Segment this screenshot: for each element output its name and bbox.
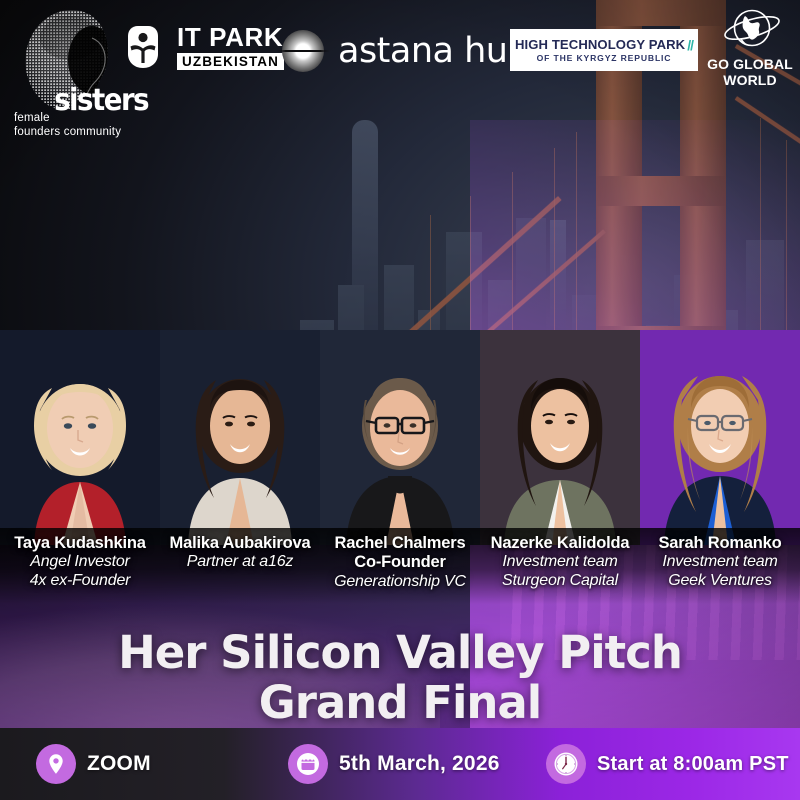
- sponsor-logo-astana-hub[interactable]: astana hub: [282, 30, 529, 72]
- calendar-icon: [288, 744, 328, 784]
- clock-icon: [546, 744, 586, 784]
- speaker-role-1: Investment team: [482, 553, 638, 572]
- avatar: [640, 330, 800, 545]
- title-line-1: Her Silicon Valley Pitch: [118, 626, 682, 679]
- speaker-card[interactable]: Sarah Romanko Investment team Geek Ventu…: [640, 330, 800, 610]
- it-park-country: UZBEKISTAN: [177, 53, 284, 71]
- event-date[interactable]: 5th March, 2026: [288, 744, 500, 784]
- avatar: [320, 330, 480, 545]
- avatar: [0, 330, 160, 545]
- sponsor-logo-sisters[interactable]: sisters female founders community: [6, 8, 136, 140]
- speaker-photo: [320, 330, 480, 545]
- speaker-role-2: Sturgeon Capital: [482, 572, 638, 591]
- sisters-tagline-2: founders community: [14, 126, 121, 138]
- speaker-role-2: 4x ex-Founder: [2, 572, 158, 591]
- speaker-name: Malika Aubakirova: [162, 534, 318, 553]
- title-line-2: Grand Final: [0, 678, 800, 728]
- speaker-card[interactable]: Malika Aubakirova Partner at a16z: [160, 330, 320, 610]
- ggw-name-line1: GO GLOBAL: [707, 57, 793, 72]
- speaker-card[interactable]: Nazerke Kalidolda Investment team Sturge…: [480, 330, 640, 610]
- speaker-photo: [640, 330, 800, 545]
- it-park-text: IT PARK UZBEKISTAN: [177, 24, 284, 71]
- avatar: [480, 330, 640, 545]
- speaker-card[interactable]: Taya Kudashkina Angel Investor 4x ex-Fou…: [0, 330, 160, 610]
- speaker-label: Nazerke Kalidolda Investment team Sturge…: [480, 534, 640, 591]
- speaker-photo: [0, 330, 160, 545]
- speaker-label: Malika Aubakirova Partner at a16z: [160, 534, 320, 572]
- sisters-tagline-1: female: [14, 112, 50, 124]
- speaker-label: Rachel Chalmers Co-Founder Generationshi…: [320, 534, 480, 592]
- htp-subtitle: OF THE KYRGYZ REPUBLIC: [537, 54, 672, 63]
- speaker-role-2: Generationship VC: [322, 573, 478, 592]
- event-poster: sisters female founders community IT PAR…: [0, 0, 800, 800]
- speaker-label: Sarah Romanko Investment team Geek Ventu…: [640, 534, 800, 591]
- sponsor-logo-bar: sisters female founders community IT PAR…: [0, 0, 800, 120]
- speaker-name: Nazerke Kalidolda: [482, 534, 638, 553]
- speaker-card[interactable]: Rachel Chalmers Co-Founder Generationshi…: [320, 330, 480, 610]
- sponsor-logo-go-global-world[interactable]: GO GLOBAL WORLD: [704, 4, 796, 104]
- speaker-role-2: Geek Ventures: [642, 572, 798, 591]
- astana-hub-name: astana hub: [338, 34, 529, 69]
- sponsor-logo-high-technology-park[interactable]: HIGH TECHNOLOGY PARK // OF THE KYRGYZ RE…: [510, 29, 698, 71]
- it-park-name: IT PARK: [177, 24, 284, 50]
- speaker-photo: [480, 330, 640, 545]
- speaker-name: Rachel Chalmers: [322, 534, 478, 553]
- speaker-role-1: Co-Founder: [322, 553, 478, 572]
- speaker-name: Sarah Romanko: [642, 534, 798, 553]
- location-label: ZOOM: [87, 752, 151, 776]
- htp-name: HIGH TECHNOLOGY PARK: [515, 38, 685, 51]
- date-label: 5th March, 2026: [339, 752, 500, 776]
- speaker-row: Taya Kudashkina Angel Investor 4x ex-Fou…: [0, 330, 800, 610]
- location-pin-icon: [36, 744, 76, 784]
- astana-hub-orb-icon: [282, 30, 324, 72]
- avatar: [160, 330, 320, 545]
- event-time[interactable]: Start at 8:00am PST: [546, 744, 789, 784]
- event-location[interactable]: ZOOM: [36, 744, 151, 784]
- htp-slashes: //: [687, 38, 693, 52]
- sponsor-logo-it-park[interactable]: IT PARK UZBEKISTAN: [118, 22, 284, 72]
- sisters-wordmark: sisters: [54, 86, 148, 116]
- htp-title-row: HIGH TECHNOLOGY PARK //: [515, 38, 693, 52]
- page-title: Her Silicon Valley Pitch Grand Final: [0, 628, 800, 727]
- speaker-role-1: Partner at a16z: [162, 553, 318, 572]
- speaker-name: Taya Kudashkina: [2, 534, 158, 553]
- speaker-photo: [160, 330, 320, 545]
- time-label: Start at 8:00am PST: [597, 753, 789, 776]
- ggw-name-line2: WORLD: [723, 73, 776, 88]
- speaker-role-1: Investment team: [642, 553, 798, 572]
- it-park-person-icon: [118, 22, 168, 72]
- globe-ring-icon: [719, 4, 781, 56]
- speaker-label: Taya Kudashkina Angel Investor 4x ex-Fou…: [0, 534, 160, 591]
- event-details-bar: ZOOM 5th March, 2026: [0, 728, 800, 800]
- speaker-role-1: Angel Investor: [2, 553, 158, 572]
